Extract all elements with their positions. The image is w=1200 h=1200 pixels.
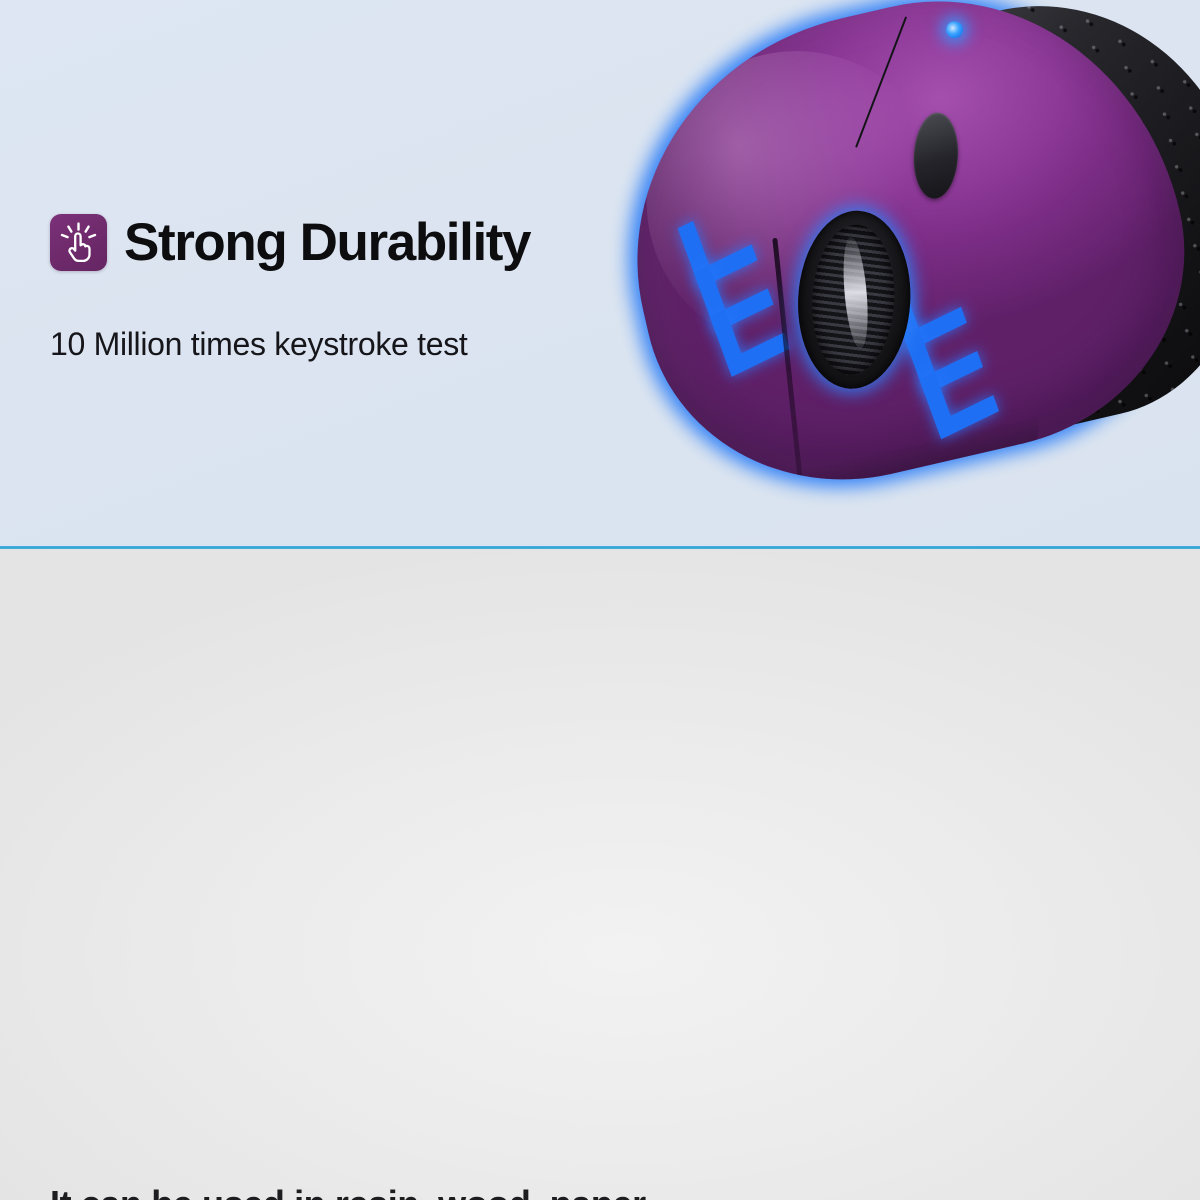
status-led-indicator [944, 20, 964, 40]
panel-divider [0, 546, 1200, 549]
page-subtitle: 10 Million times keystroke test [50, 326, 468, 363]
mouse-top-shell [589, 0, 1200, 520]
durability-panel: Strong Durability 10 Million times keyst… [0, 0, 1200, 546]
feature-heading-row: Strong Durability [50, 214, 530, 271]
click-hand-icon [50, 214, 107, 271]
shell-front-shadow [744, 415, 1054, 520]
page-title: Strong Durability [124, 216, 530, 269]
product-feature-page: Strong Durability 10 Million times keyst… [0, 0, 1200, 1200]
mouse-closeup-image [529, 0, 1200, 546]
materials-heading: It can be used in resin, wood, paper, cl… [50, 1179, 730, 1200]
materials-panel: It can be used in resin, wood, paper, cl… [0, 549, 1200, 1200]
